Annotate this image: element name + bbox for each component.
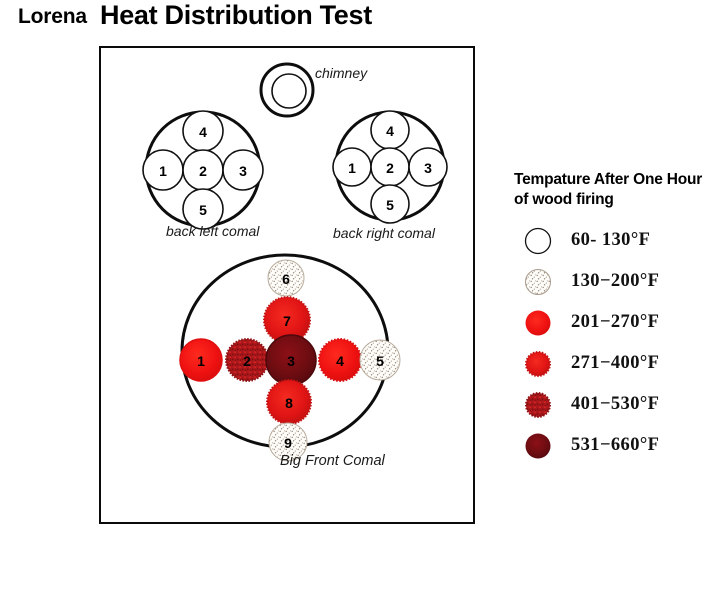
- legend-swatch-60-130-icon: [524, 227, 552, 255]
- legend-label: 130−200°F: [571, 271, 659, 292]
- cell-number: 3: [287, 353, 295, 369]
- legend-label: 401−530°F: [571, 394, 659, 415]
- cell-number: 4: [336, 353, 344, 369]
- legend: Tempature After One Hour of wood firing …: [514, 170, 724, 470]
- legend-row-271-400: 271−400°F: [514, 347, 724, 381]
- chimney-shape: [261, 64, 313, 116]
- big-front-comal: 6 7 1 2 3 4 5: [180, 255, 400, 461]
- cell-number: 1: [197, 353, 205, 369]
- cell-number: 2: [243, 353, 251, 369]
- back-left-comal-label: back left comal: [166, 224, 259, 238]
- legend-row-201-270: 201−270°F: [514, 306, 724, 340]
- back-right-cell-1: 1: [333, 148, 371, 186]
- front-cell-6: 6: [268, 260, 304, 296]
- back-left-cell-1: 1: [143, 150, 183, 190]
- back-left-cell-3: 3: [223, 150, 263, 190]
- legend-swatch-531-660-icon: [524, 432, 552, 460]
- front-cell-3: 3: [266, 335, 316, 385]
- cell-number: 3: [239, 163, 247, 179]
- cell-number: 5: [199, 202, 207, 218]
- cell-number: 6: [282, 271, 290, 287]
- cell-number: 5: [376, 353, 384, 369]
- cell-number: 9: [284, 435, 292, 451]
- front-cell-4: 4: [319, 339, 361, 381]
- back-left-cell-2: 2: [183, 150, 223, 190]
- back-right-cell-5: 5: [371, 185, 409, 223]
- cell-number: 2: [199, 163, 207, 179]
- back-right-cell-4: 4: [371, 111, 409, 149]
- page-title: Heat Distribution Test: [100, 1, 372, 31]
- cell-number: 1: [159, 163, 167, 179]
- legend-row-401-530: 401−530°F: [514, 388, 724, 422]
- legend-row-130-200: 130−200°F: [514, 265, 724, 299]
- legend-label: 271−400°F: [571, 353, 659, 374]
- legend-label: 60- 130°F: [571, 230, 650, 251]
- legend-row-531-660: 531−660°F: [514, 429, 724, 463]
- cell-number: 8: [285, 395, 293, 411]
- legend-label: 201−270°F: [571, 312, 659, 333]
- legend-label: 531−660°F: [571, 435, 659, 456]
- cell-number: 2: [386, 160, 394, 176]
- cell-number: 1: [348, 160, 356, 176]
- back-right-comal: 4 1 2 3 5: [333, 111, 447, 223]
- cell-number: 5: [386, 197, 394, 213]
- back-right-cell-2: 2: [371, 148, 409, 186]
- back-right-cell-3: 3: [409, 148, 447, 186]
- legend-row-60-130: 60- 130°F: [514, 224, 724, 258]
- front-cell-5: 5: [360, 340, 400, 380]
- back-right-comal-label: back right comal: [333, 226, 435, 240]
- legend-swatch-130-200-icon: [524, 268, 552, 296]
- front-cell-2: 2: [226, 339, 268, 381]
- cell-number: 3: [424, 160, 432, 176]
- front-cell-1: 1: [180, 339, 222, 381]
- front-cell-8: 8: [267, 380, 311, 424]
- cell-number: 4: [386, 123, 394, 139]
- chimney-label: chimney: [315, 66, 367, 80]
- legend-swatch-201-270-icon: [524, 309, 552, 337]
- back-left-comal: 4 1 2 3 5: [143, 111, 263, 229]
- legend-title: Tempature After One Hour of wood firing: [514, 170, 720, 210]
- legend-swatch-271-400-icon: [524, 350, 552, 378]
- author-name: Lorena: [18, 6, 87, 27]
- legend-title-line1: Tempature After One Hour: [514, 171, 702, 188]
- cell-number: 4: [199, 124, 207, 140]
- legend-swatch-401-530-icon: [524, 391, 552, 419]
- legend-title-line2: of wood firing: [514, 191, 614, 208]
- back-left-cell-4: 4: [183, 111, 223, 151]
- big-front-comal-label: Big Front Comal: [280, 454, 385, 469]
- cell-number: 7: [283, 313, 291, 329]
